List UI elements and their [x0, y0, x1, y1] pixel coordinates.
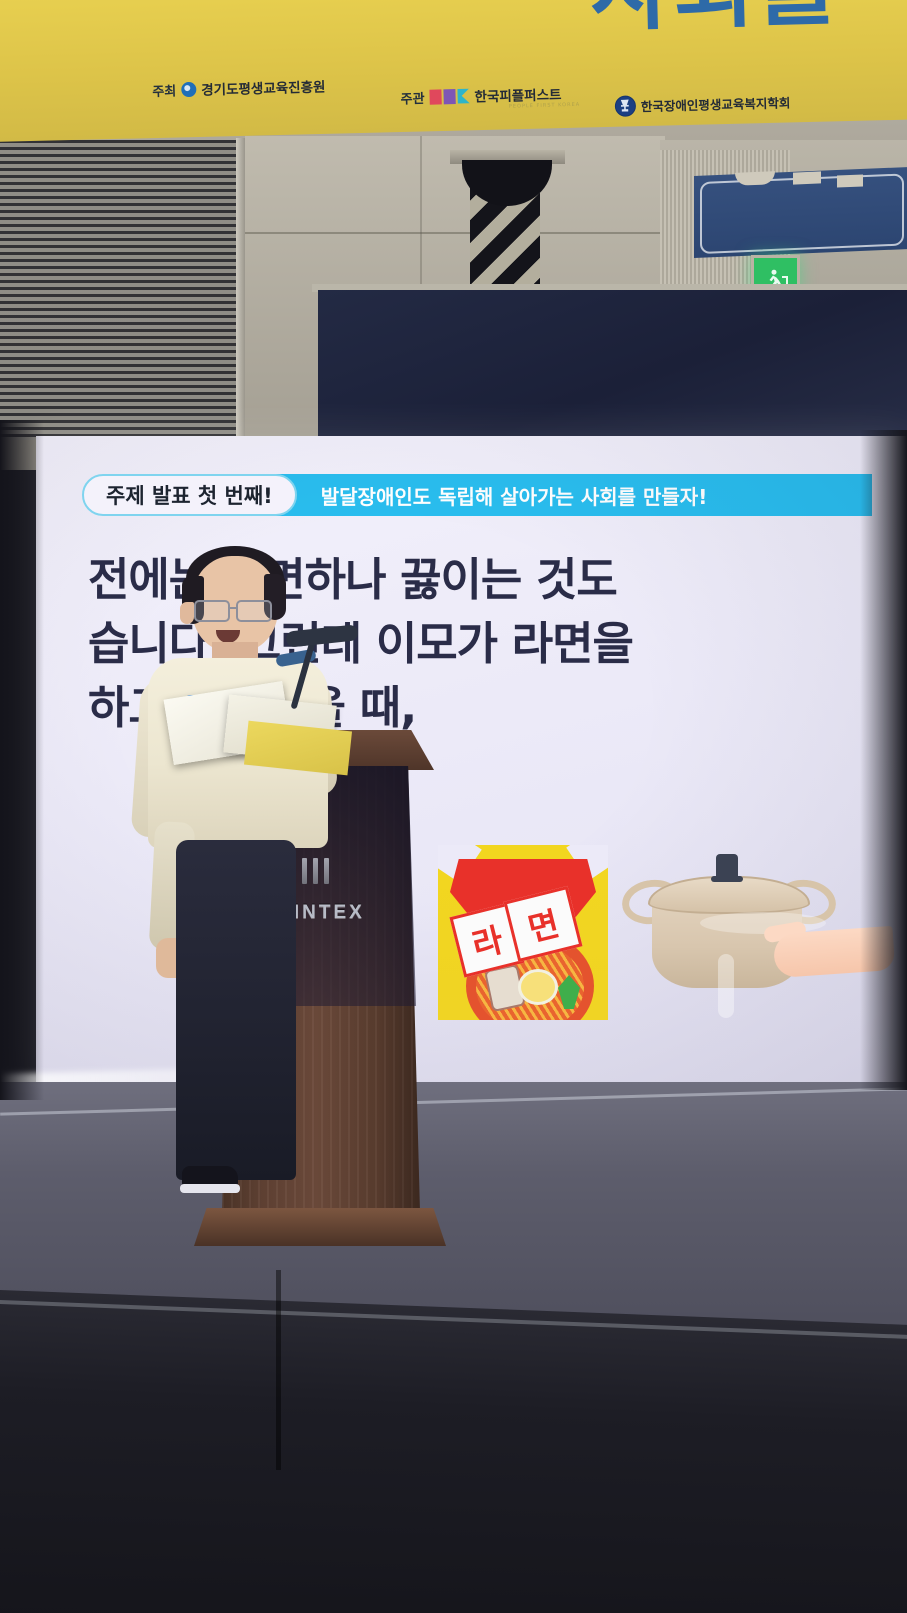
dark-display-panel [318, 290, 907, 450]
blue-wall-sign-border [700, 173, 904, 254]
society-emblem-logo-icon [615, 95, 637, 117]
banner-headline: 사회를 [588, 0, 840, 48]
stage-skirt [0, 1290, 907, 1613]
presenter-shoe-sole [180, 1184, 240, 1193]
left-shadow-overlay [0, 420, 44, 1100]
conference-photo-scene: 사회를 주최 경기도평생교육진흥원 주관 한국피플퍼스트 PEOPLE FIRS… [0, 0, 907, 1613]
egg-topping [518, 969, 558, 1005]
slide-header: 주제 발표 첫 번째! 발달장애인도 독립해 살아가는 사회를 만들자! [82, 474, 872, 516]
ramen-package-illustration: 라 면 [438, 845, 608, 1020]
pot-illustration [614, 848, 840, 988]
gyeonggi-institute-logo-icon [181, 81, 196, 96]
wall-seam-horizontal [245, 232, 665, 234]
credit-host: 주최 경기도평생교육진흥원 [152, 75, 326, 100]
slide-title-bar: 발달장애인도 독립해 살아가는 사회를 만들자! [275, 474, 872, 516]
pot-lid-knob [716, 854, 738, 880]
presenter-pants [176, 840, 296, 1180]
pfk-logo-subtext: PEOPLE FIRST KOREA [509, 102, 580, 110]
credit-organizer: 주관 한국피플퍼스트 PEOPLE FIRST KOREA [400, 83, 561, 107]
pfk-logo-icon [429, 88, 469, 104]
louver-vent-panel [0, 140, 240, 440]
slide-topic-chip: 주제 발표 첫 번째! [82, 474, 297, 516]
pot-lid-highlight [700, 912, 826, 934]
glasses-icon [192, 600, 274, 618]
pot-highlight [718, 954, 734, 1018]
credit-role-label: 주최 [152, 80, 176, 100]
credit-society: 한국장애인평생교육복지학회 [615, 91, 791, 117]
vent-frame-edge [236, 138, 245, 443]
credit-org-name: 한국장애인평생교육복지학회 [641, 92, 791, 115]
credit-role-label: 주관 [400, 87, 424, 107]
credit-org-name: 경기도평생교육진흥원 [201, 75, 326, 98]
sign-clip [793, 171, 821, 184]
sign-clip [837, 174, 863, 187]
right-shadow-overlay [860, 430, 907, 1090]
pants-center-seam [276, 1270, 281, 1470]
presenter-figure: 우리 발달 비 [130, 546, 360, 1246]
